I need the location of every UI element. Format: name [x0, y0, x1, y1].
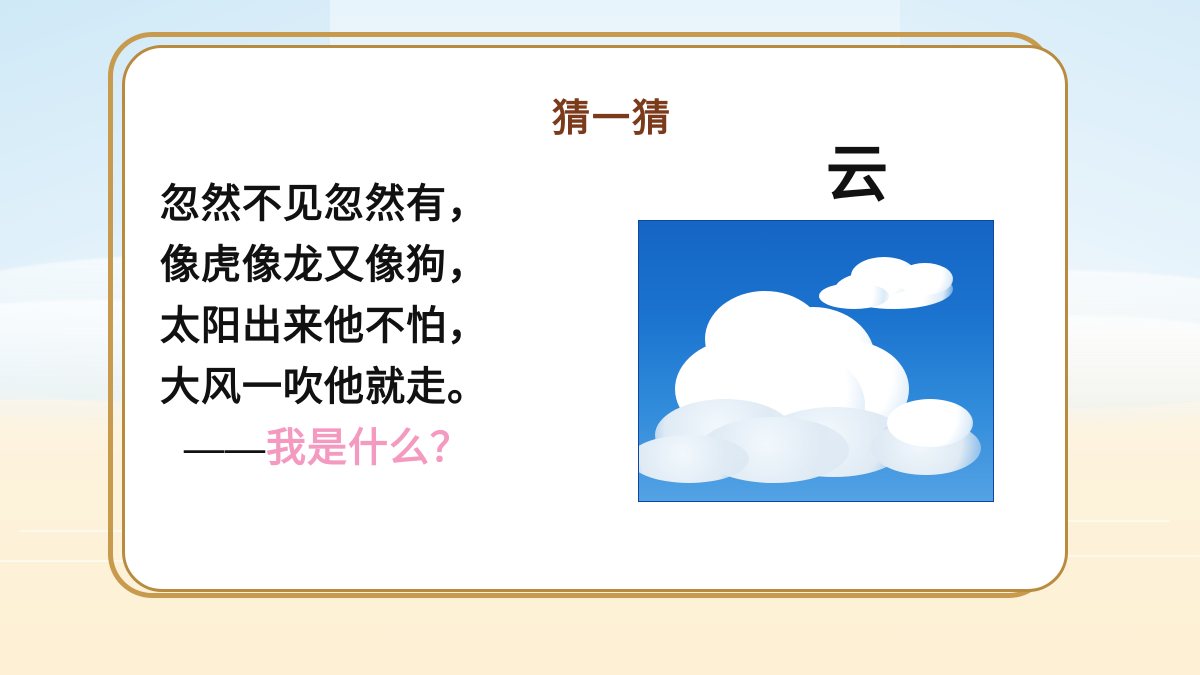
- riddle-question: ——我是什么？: [160, 417, 580, 479]
- card-content: 猜一猜 云 忽然不见忽然有， 像虎像龙又像狗， 太阳出来他不怕， 大风一吹他就走…: [122, 45, 1068, 590]
- answer-character: 云: [777, 123, 937, 213]
- slide-canvas: 猜一猜 云 忽然不见忽然有， 像虎像龙又像狗， 太阳出来他不怕， 大风一吹他就走…: [0, 0, 1200, 675]
- poem-line-3: 太阳出来他不怕，: [160, 295, 580, 356]
- question-dash: ——: [184, 425, 266, 470]
- cloud-photo: [638, 220, 994, 502]
- photo-cloud-right-wisp: [887, 399, 973, 447]
- poem-line-2: 像虎像龙又像狗，: [160, 234, 580, 295]
- poem-line-1: 忽然不见忽然有，: [160, 173, 580, 234]
- photo-cloud-upper-right-c: [897, 263, 953, 295]
- page-title: 猜一猜: [462, 87, 762, 142]
- question-text: 我是什么？: [266, 425, 471, 470]
- poem-line-4: 大风一吹他就走。: [160, 356, 580, 417]
- photo-cloud-upper-right-d: [819, 283, 889, 309]
- riddle-poem: 忽然不见忽然有， 像虎像龙又像狗， 太阳出来他不怕， 大风一吹他就走。 ——我是…: [160, 173, 580, 479]
